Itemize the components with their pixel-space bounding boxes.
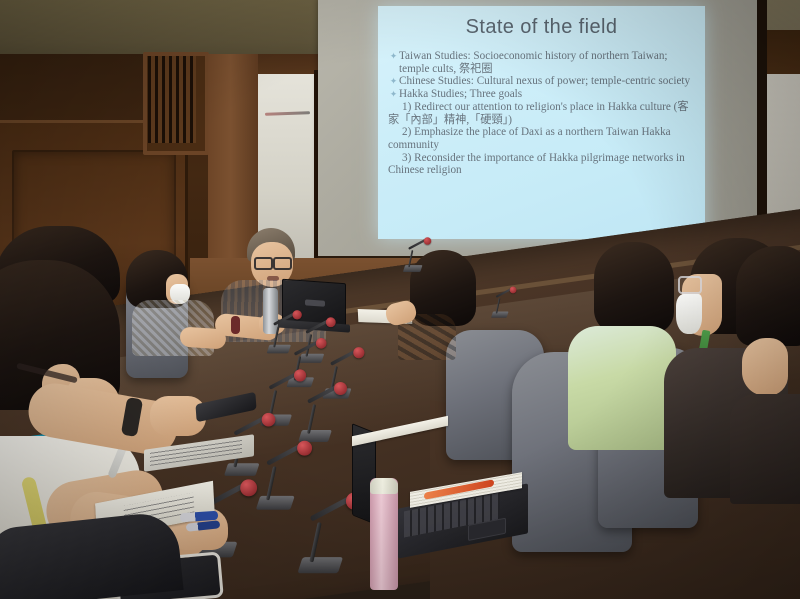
projected-slide: State of the field ✦ Taiwan Studies: Soc… xyxy=(378,6,705,239)
slide-goal-item: 1) Redirect our attention to religion's … xyxy=(388,101,695,126)
thermos-pink xyxy=(370,478,398,590)
slide-bullet: ✦ Chinese Studies: Cultural nexus of pow… xyxy=(388,75,695,88)
attendee-green-shirt xyxy=(568,326,676,450)
laptop-logo-asus xyxy=(305,299,325,306)
slide-body: ✦ Taiwan Studies: Socioeconomic history … xyxy=(388,50,695,177)
slide-bullet: ✦ Taiwan Studies: Socioeconomic history … xyxy=(388,50,695,75)
slide-goal-item: 2) Emphasize the place of Daxi as a nort… xyxy=(388,126,695,151)
slide-bullet-text: Taiwan Studies: Socioeconomic history of… xyxy=(399,50,695,75)
attendee-lanyard-glasses xyxy=(678,276,702,294)
diamond-bullet-icon: ✦ xyxy=(388,75,399,88)
diamond-bullet-icon: ✦ xyxy=(388,88,399,101)
slide-bullet: ✦ Hakka Studies; Three goals xyxy=(388,88,695,101)
vent-slats xyxy=(148,56,196,143)
attendee-green-hair xyxy=(594,242,674,334)
attendee-right-edge-hair xyxy=(736,246,800,346)
seminar-room-photo: State of the field ✦ Taiwan Studies: Soc… xyxy=(0,0,800,599)
slide-bullet-text: Chinese Studies: Cultural nexus of power… xyxy=(399,75,695,88)
slide-bullet-text: Hakka Studies; Three goals xyxy=(399,88,695,101)
slide-goal-item: 3) Reconsider the importance of Hakka pi… xyxy=(388,152,695,177)
attendee-lanyard-mask xyxy=(676,294,702,334)
attendee-right-edge-shirt xyxy=(730,394,800,504)
slide-title: State of the field xyxy=(378,16,705,39)
diamond-bullet-icon: ✦ xyxy=(388,50,399,63)
attendee-right-edge-ear xyxy=(742,338,788,396)
thermos-pink-lid xyxy=(370,478,398,494)
person-attendee-right-edge xyxy=(736,246,800,446)
